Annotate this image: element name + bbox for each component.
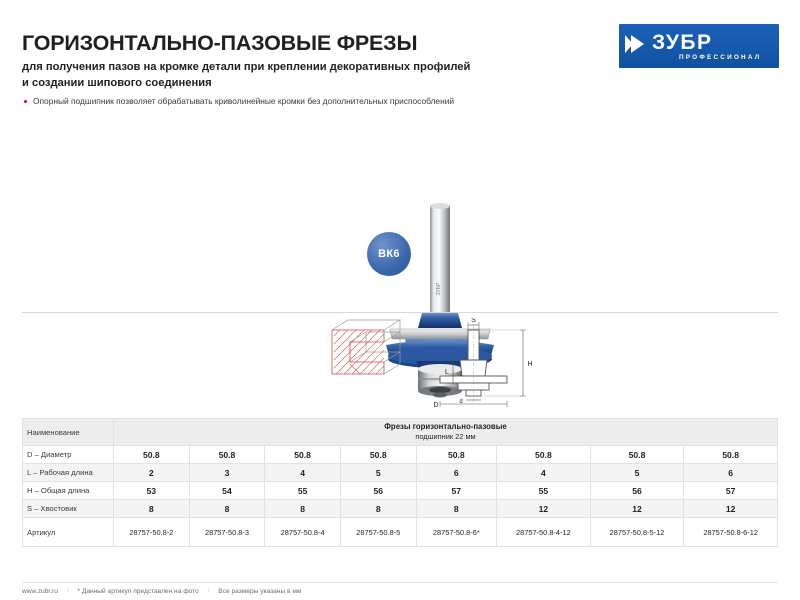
table-cell: 4 <box>265 464 341 482</box>
row-label: L – Рабочая длина <box>23 464 114 482</box>
table-cell: 50.8 <box>114 446 190 464</box>
table-row: D – Диаметр 50.8 50.8 50.8 50.8 50.8 50.… <box>23 446 778 464</box>
table-cell: 57 <box>416 482 497 500</box>
footer-divider <box>22 582 778 583</box>
table-cell: 8 <box>114 500 190 518</box>
svg-text:D: D <box>433 402 438 409</box>
table-cell: 50.8 <box>684 446 778 464</box>
feature-item: Опорный подшипник позволяет обрабатывать… <box>22 95 622 107</box>
row-label: S – Хвостовик <box>23 500 114 518</box>
table-row: L – Рабочая длина 2 3 4 5 6 4 5 6 <box>23 464 778 482</box>
table-row: H – Общая длина 53 54 55 56 57 55 56 57 <box>23 482 778 500</box>
article-cell: 28757-50.8-3 <box>189 518 265 547</box>
technical-diagram: S H L D d <box>320 318 580 416</box>
svg-text:H: H <box>527 361 532 368</box>
table-row-article: Артикул 28757-50.8-2 28757-50.8-3 28757-… <box>23 518 778 547</box>
logo-tagline: ПРОФЕССИОНАЛ <box>679 54 761 61</box>
table-group-title: Фрезы горизонтально-пазовые <box>114 422 777 432</box>
row-label: H – Общая длина <box>23 482 114 500</box>
table-cell: 5 <box>590 464 684 482</box>
table-cell: 55 <box>497 482 591 500</box>
table-cell: 12 <box>497 500 591 518</box>
table-row-label-header: Наименование <box>23 419 114 446</box>
feature-list: Опорный подшипник позволяет обрабатывать… <box>22 95 622 107</box>
table-row: S – Хвостовик 8 8 8 8 8 12 12 12 <box>23 500 778 518</box>
table-cell: 8 <box>265 500 341 518</box>
product-photo-area: ВК6 <box>0 108 800 313</box>
logo-arrow-icon <box>631 35 644 53</box>
table-cell: 4 <box>497 464 591 482</box>
svg-text:ЗУБР: ЗУБР <box>436 282 442 295</box>
table-cell: 2 <box>114 464 190 482</box>
footer-separator-2: / <box>201 588 217 595</box>
table-group-header: Фрезы горизонтально-пазовые подшипник 22… <box>114 419 778 446</box>
svg-text:d: d <box>459 399 462 405</box>
svg-text:S: S <box>471 318 476 324</box>
table-cell: 8 <box>189 500 265 518</box>
table-cell: 5 <box>340 464 416 482</box>
footer-note-2: Все размеры указаны в мм <box>218 588 301 595</box>
row-label: D – Диаметр <box>23 446 114 464</box>
table-cell: 6 <box>416 464 497 482</box>
table-cell: 54 <box>189 482 265 500</box>
catalog-page: ГОРИЗОНТАЛЬНО-ПАЗОВЫЕ ФРЕЗЫ для получени… <box>0 0 800 600</box>
specs-table: Наименование Фрезы горизонтально-пазовые… <box>22 418 778 547</box>
article-cell: 28757-50.8-4-12 <box>497 518 591 547</box>
subtitle-line-2: и создании шипового соединения <box>22 76 562 92</box>
article-cell: 28757-50.8-5 <box>340 518 416 547</box>
section-divider <box>22 312 778 313</box>
article-cell: 28757-50.8-6-12 <box>684 518 778 547</box>
table-cell: 50.8 <box>416 446 497 464</box>
logo-brand-text: ЗУБР <box>652 31 713 55</box>
table-cell: 50.8 <box>340 446 416 464</box>
table-cell: 57 <box>684 482 778 500</box>
footer-separator-1: / <box>60 588 76 595</box>
page-footer: www.zubr.ru / * Данный артикул представл… <box>22 588 778 595</box>
footer-note-1: * Данный артикул представлен на фото <box>77 588 198 595</box>
footer-website[interactable]: www.zubr.ru <box>22 588 58 595</box>
table-cell: 50.8 <box>590 446 684 464</box>
table-cell: 55 <box>265 482 341 500</box>
table-cell: 56 <box>590 482 684 500</box>
article-cell: 28757-50.8-6* <box>416 518 497 547</box>
table-cell: 12 <box>684 500 778 518</box>
table-cell: 56 <box>340 482 416 500</box>
table-group-subtitle: подшипник 22 мм <box>114 432 777 442</box>
page-header: ГОРИЗОНТАЛЬНО-ПАЗОВЫЕ ФРЕЗЫ для получени… <box>0 0 800 110</box>
row-label: Артикул <box>23 518 114 547</box>
table-cell: 50.8 <box>265 446 341 464</box>
table-cell: 50.8 <box>497 446 591 464</box>
article-cell: 28757-50.8-5-12 <box>590 518 684 547</box>
subtitle-line-1: для получения пазов на кромке детали при… <box>22 60 562 76</box>
table-cell: 12 <box>590 500 684 518</box>
table-cell: 8 <box>416 500 497 518</box>
table-cell: 50.8 <box>189 446 265 464</box>
article-cell: 28757-50.8-2 <box>114 518 190 547</box>
table-cell: 53 <box>114 482 190 500</box>
table-cell: 8 <box>340 500 416 518</box>
table-cell: 3 <box>189 464 265 482</box>
table-cell: 6 <box>684 464 778 482</box>
page-subtitle: для получения пазов на кромке детали при… <box>22 60 562 91</box>
brand-logo: ЗУБР ПРОФЕССИОНАЛ <box>619 24 779 68</box>
table-header-row: Наименование Фрезы горизонтально-пазовые… <box>23 419 778 446</box>
page-title: ГОРИЗОНТАЛЬНО-ПАЗОВЫЕ ФРЕЗЫ <box>22 31 417 56</box>
svg-text:L: L <box>445 369 449 376</box>
article-cell: 28757-50.8-4 <box>265 518 341 547</box>
